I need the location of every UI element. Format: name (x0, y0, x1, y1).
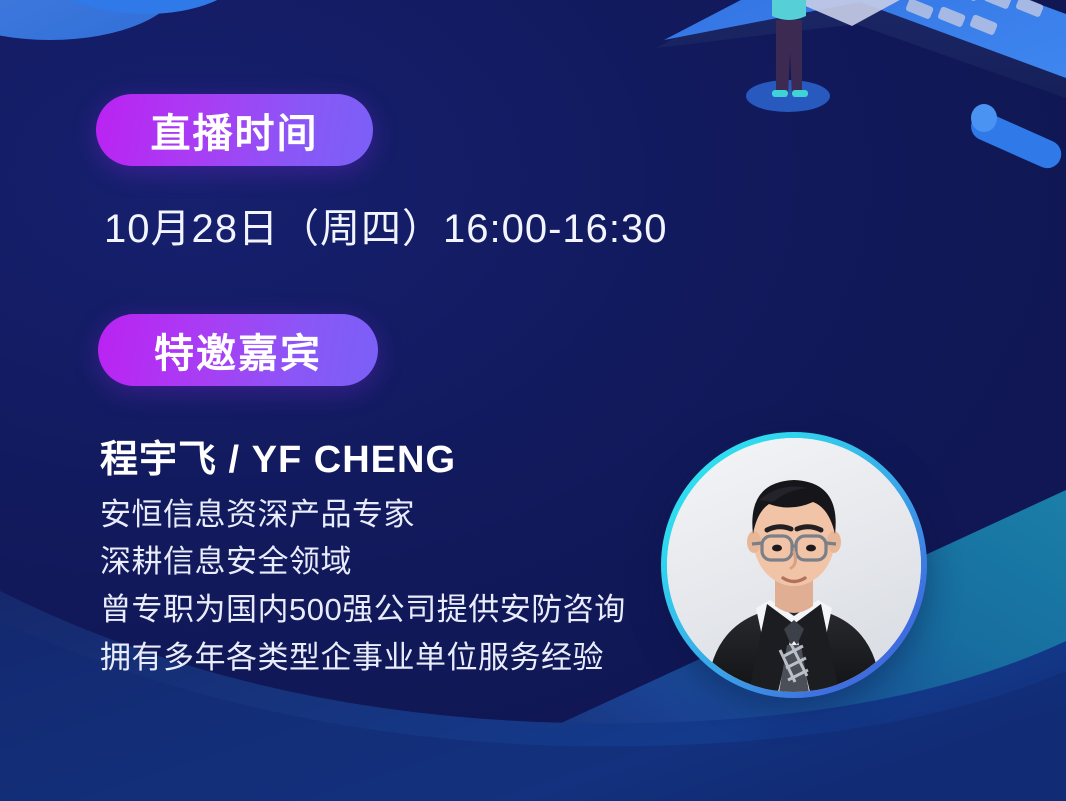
live-time-value: 10月28日（周四）16:00-16:30 (104, 196, 668, 254)
speaker-block: 程宇飞 / YF CHENG 安恒信息资深产品专家 深耕信息安全领域 曾专职为国… (100, 437, 626, 681)
speaker-name: 程宇飞 / YF CHENG (100, 437, 626, 485)
speaker-bio-line: 曾专职为国内500强公司提供安防咨询 (100, 586, 626, 634)
webinar-poster: 直播时间 10月28日（周四）16:00-16:30 特邀嘉宾 程宇飞 / YF… (0, 0, 1066, 801)
speaker-portrait-photo (667, 438, 921, 692)
guest-badge: 特邀嘉宾 (98, 314, 378, 386)
speaker-bio-line: 深耕信息安全领域 (100, 538, 626, 586)
speaker-portrait-ring (661, 432, 927, 698)
speaker-bio-list: 安恒信息资深产品专家 深耕信息安全领域 曾专职为国内500强公司提供安防咨询 拥… (100, 491, 626, 682)
speaker-bio-line: 安恒信息资深产品专家 (100, 491, 626, 539)
live-time-badge: 直播时间 (96, 94, 373, 166)
speaker-bio-line: 拥有多年各类型企事业单位服务经验 (100, 634, 626, 682)
poster-content: 直播时间 10月28日（周四）16:00-16:30 特邀嘉宾 程宇飞 / YF… (0, 0, 1066, 801)
speaker-portrait-illustration-icon (667, 438, 921, 692)
